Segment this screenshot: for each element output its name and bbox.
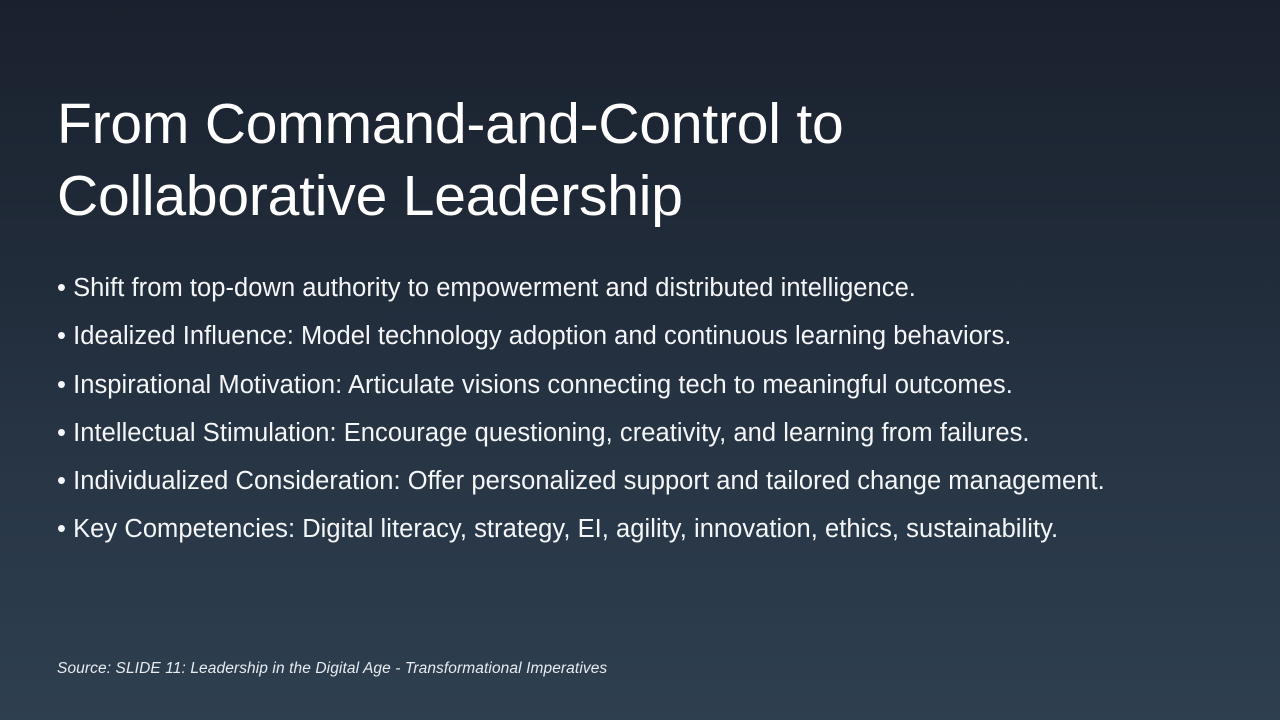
list-item-text: Individualized Consideration: Offer pers… <box>73 467 1105 495</box>
list-item: • Key Competencies: Digital literacy, st… <box>57 505 1237 553</box>
bullet-marker-icon: • <box>57 515 66 543</box>
presentation-slide: From Command-and-Control to Collaborativ… <box>0 0 1280 720</box>
list-item: • Shift from top-down authority to empow… <box>57 264 1237 312</box>
slide-title: From Command-and-Control to Collaborativ… <box>57 88 1057 232</box>
list-item-text: Key Competencies: Digital literacy, stra… <box>73 515 1058 543</box>
list-item: • Individualized Consideration: Offer pe… <box>57 457 1237 505</box>
list-item: • Inspirational Motivation: Articulate v… <box>57 361 1237 409</box>
list-item-text: Shift from top-down authority to empower… <box>73 274 916 302</box>
bullet-marker-icon: • <box>57 274 66 302</box>
list-item-text: Inspirational Motivation: Articulate vis… <box>73 371 1013 399</box>
list-item: • Idealized Influence: Model technology … <box>57 312 1237 360</box>
bullet-marker-icon: • <box>57 322 66 350</box>
bullet-marker-icon: • <box>57 467 66 495</box>
list-item-text: Intellectual Stimulation: Encourage ques… <box>73 419 1029 447</box>
bullet-list: • Shift from top-down authority to empow… <box>57 264 1237 554</box>
source-attribution: Source: SLIDE 11: Leadership in the Digi… <box>57 658 607 680</box>
bullet-marker-icon: • <box>57 371 66 399</box>
list-item-text: Idealized Influence: Model technology ad… <box>73 322 1011 350</box>
bullet-marker-icon: • <box>57 419 66 447</box>
list-item: • Intellectual Stimulation: Encourage qu… <box>57 409 1237 457</box>
